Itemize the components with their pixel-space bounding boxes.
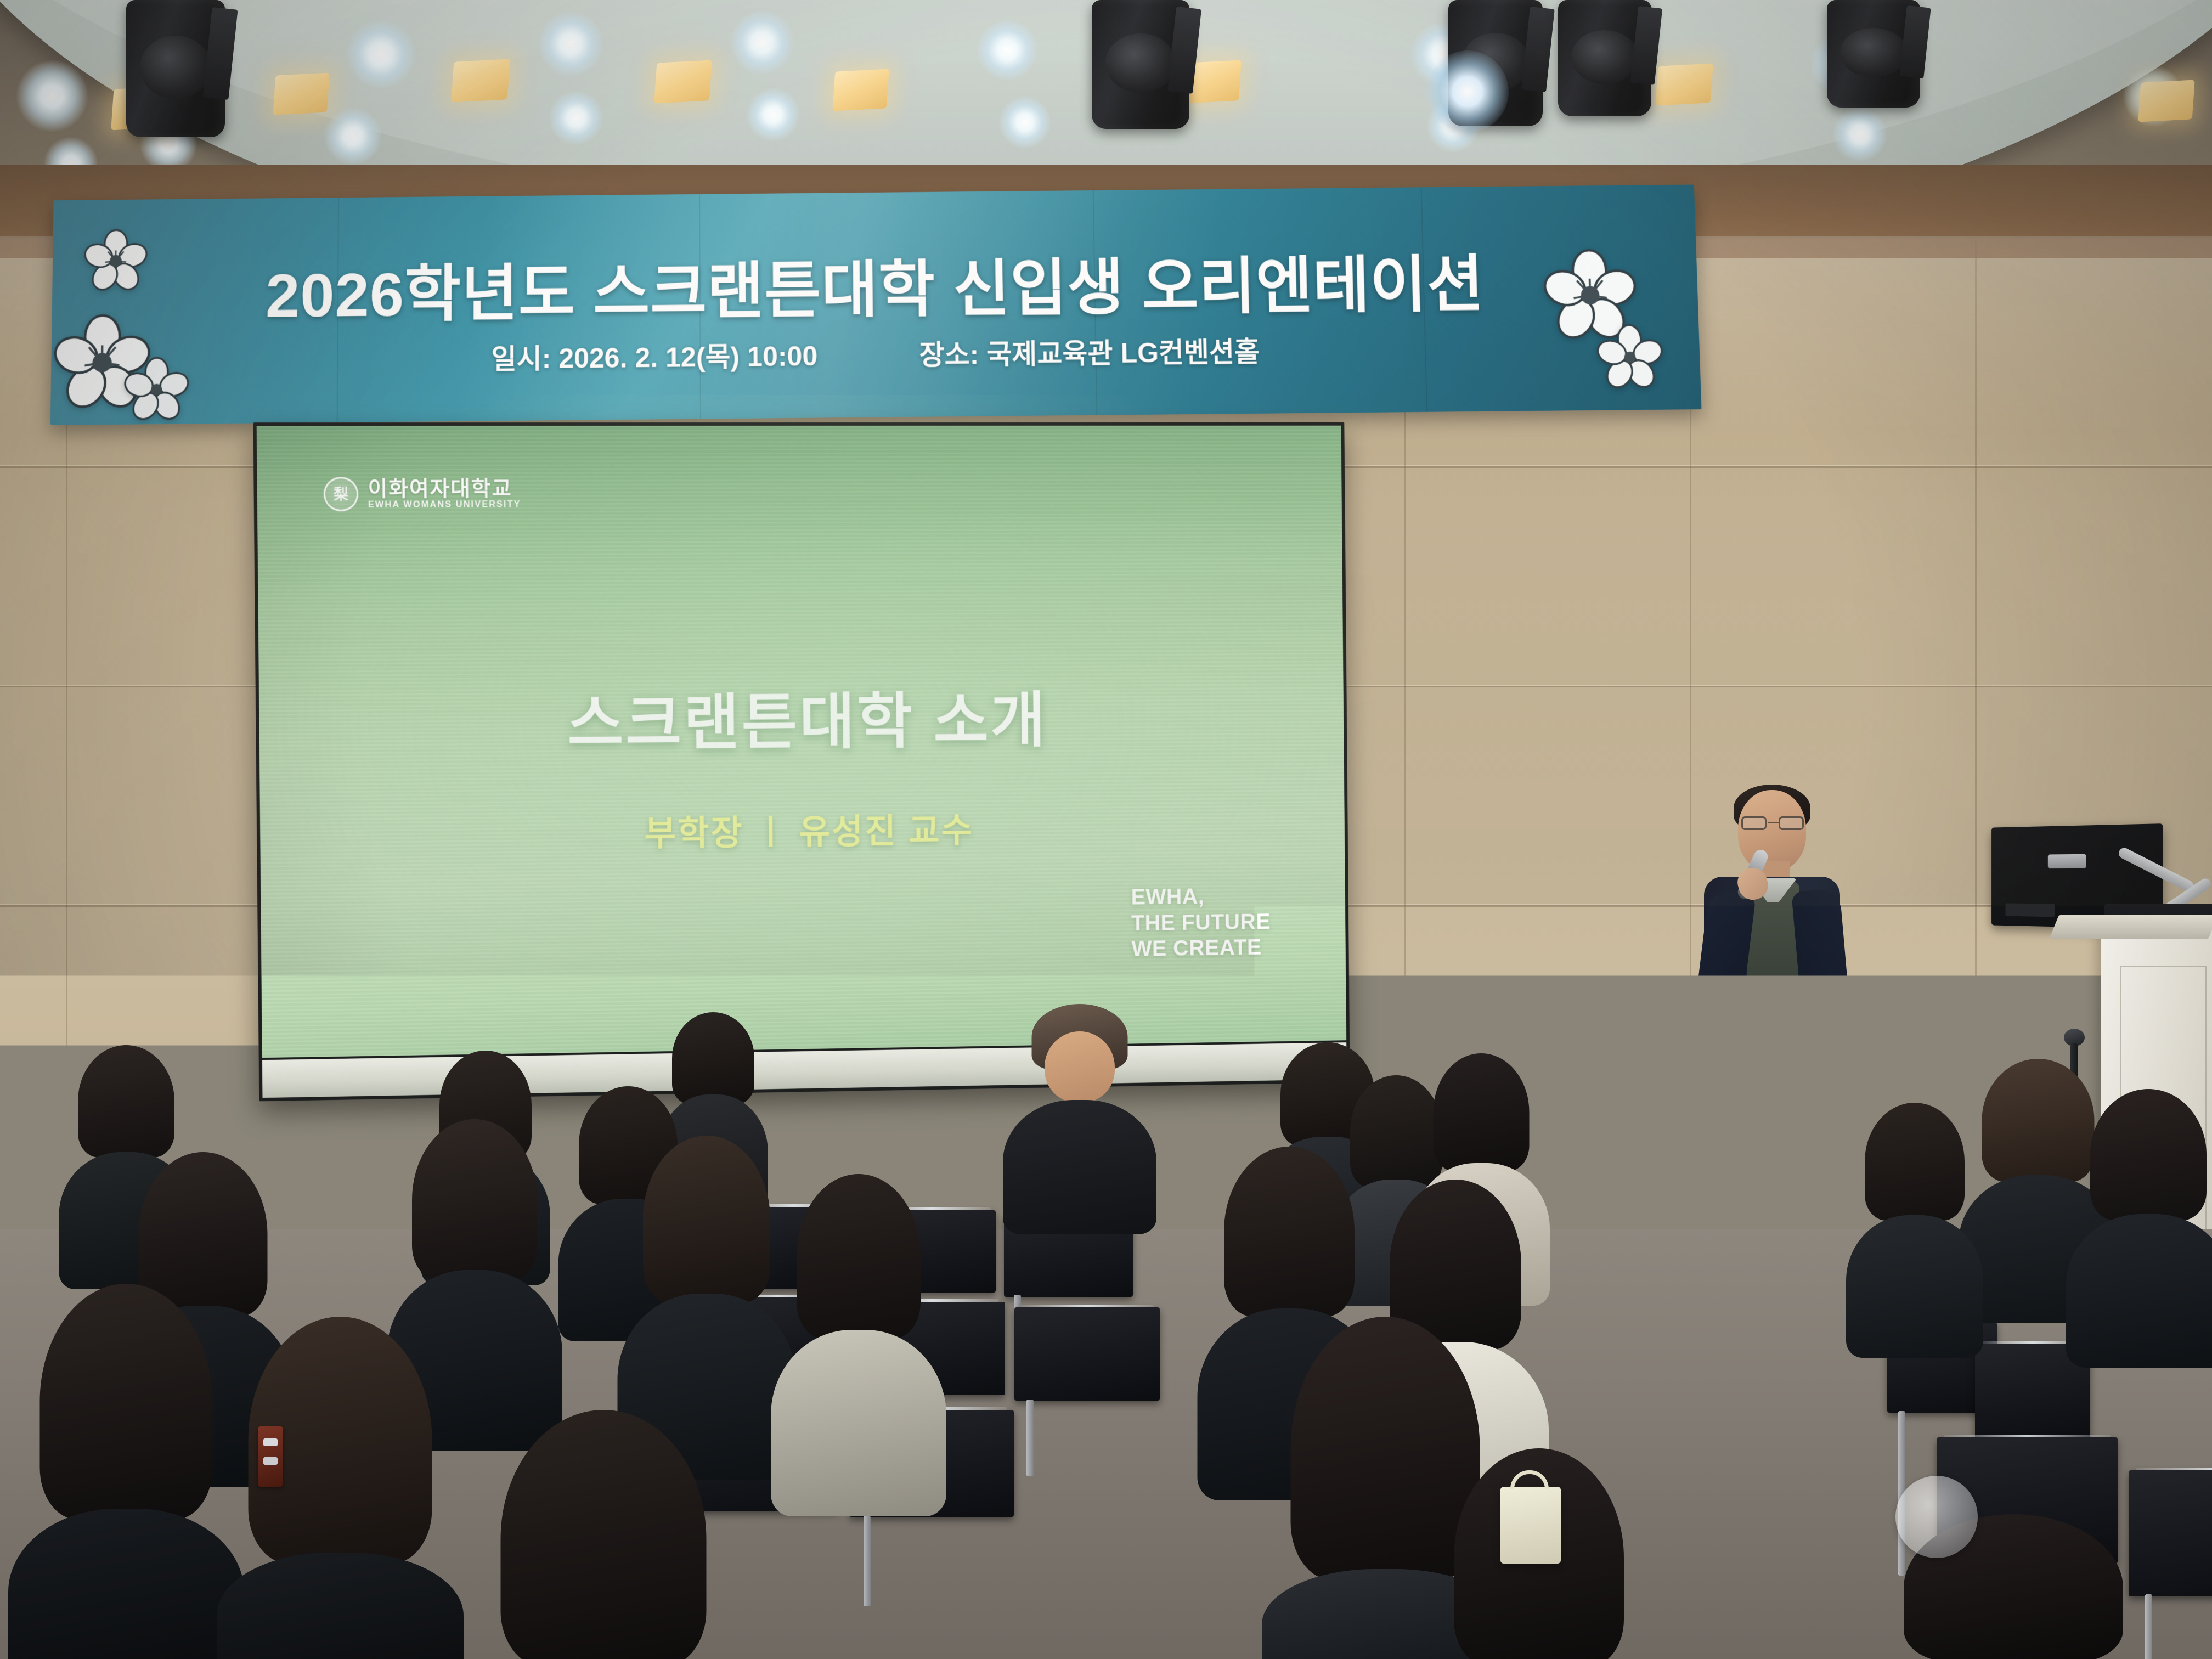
downlight-icon [538,11,603,77]
stage-spotlight-icon [1092,0,1189,129]
torso [217,1553,464,1659]
downlight-icon [549,91,603,145]
torso [1846,1215,1983,1358]
torso [875,1553,1133,1659]
podium-top-ledge [2049,915,2212,939]
downlight-icon [998,96,1051,149]
hair [1982,1059,2095,1182]
downlight-icon [346,19,416,89]
torso [2066,1214,2212,1368]
warm-ceiling-light-icon [1655,63,1713,105]
banner-date: 일시: 2026. 2. 12(목) 10:00 [491,334,817,377]
ewha-name-english: EWHA WOMANS UNIVERSITY [368,500,521,510]
monitor-vesa-mount [2048,854,2086,868]
downlight-icon [16,60,88,132]
chair [2129,1470,2212,1596]
warm-ceiling-light-icon [2138,80,2195,122]
stage-spotlight-icon [1558,0,1651,116]
projection-screen: 梨 이화여자대학교 EWHA WOMANS UNIVERSITY 스크랜튼대학 … [257,426,1346,1058]
tagline-line-2: THE FUTURE [1131,909,1271,936]
ewha-name-korean: 이화여자대학교 [368,478,521,500]
hair [78,1045,174,1158]
stage-spotlight-icon [1827,0,1920,108]
chair-leg [864,1516,871,1606]
hair [40,1284,213,1520]
speaker-presenter [1679,785,1865,1295]
audience-member [241,1317,439,1659]
audience-member [33,1284,219,1659]
slide-subtitle: 부학장 ㅣ 유성진 교수 [260,799,1345,860]
stage-spotlight-icon [1448,0,1543,126]
downlight-icon [324,107,382,165]
glasses-icon [1740,816,1805,830]
banner-title: 2026학년도 스크랜튼대학 신입생 오리엔테이션 [52,233,1699,337]
downlight-icon [746,88,800,142]
slide-title: 스크랜튼대학 소개 [259,669,1344,765]
ewha-logo: 梨 이화여자대학교 EWHA WOMANS UNIVERSITY [324,477,521,511]
audience-member [2085,1089,2212,1325]
hair [2090,1089,2207,1221]
hair [501,1410,707,1659]
torso [1003,1100,1156,1234]
event-banner: 2026학년도 스크랜튼대학 신입생 오리엔테이션 일시: 2026. 2. 1… [50,185,1702,425]
projection-screen-frame: 梨 이화여자대학교 EWHA WOMANS UNIVERSITY 스크랜튼대학 … [253,422,1350,1102]
hair [1865,1103,1965,1221]
slide-tagline: EWHA, THE FUTURE WE CREATE [1131,883,1271,962]
downlight-icon [977,19,1038,81]
hair [1434,1053,1530,1171]
audience-member [1860,1103,1970,1322]
audience-member [900,1278,1108,1659]
warm-ceiling-light-icon [273,72,330,115]
hair [643,1136,770,1303]
tagline-line-3: WE CREATE [1131,935,1271,962]
speaker-head [1738,790,1806,871]
monitor-port-bay [2005,903,2055,917]
audience-member [636,1136,776,1421]
audience-member [1020,1004,1138,1223]
crest-glyph: 梨 [334,487,348,501]
warm-ceiling-light-icon [654,60,712,103]
head [1045,1031,1115,1103]
tagline-line-1: EWHA, [1131,883,1270,911]
downlight-icon [1832,107,1887,162]
banner-place: 장소: 국제교육관 LG컨벤션홀 [919,330,1260,373]
ewha-crest-icon: 梨 [324,477,359,511]
auditorium-photo: 2026학년도 스크랜튼대학 신입생 오리엔테이션 일시: 2026. 2. 1… [0,0,2212,1659]
warm-ceiling-light-icon [451,59,510,102]
hair-clip-icon [258,1426,283,1487]
hair [1224,1147,1355,1317]
downlight-icon [730,10,794,75]
warm-ceiling-light-icon [832,69,889,111]
tote-bag [1500,1487,1561,1564]
plastic-bag [1895,1476,1978,1558]
hair [908,1278,1100,1564]
torso [8,1509,244,1659]
chair-leg [2145,1594,2152,1659]
stage-spotlight-icon [126,0,225,137]
audience-member [494,1410,713,1659]
ewha-logo-names: 이화여자대학교 EWHA WOMANS UNIVERSITY [368,478,521,510]
hair [412,1119,537,1281]
